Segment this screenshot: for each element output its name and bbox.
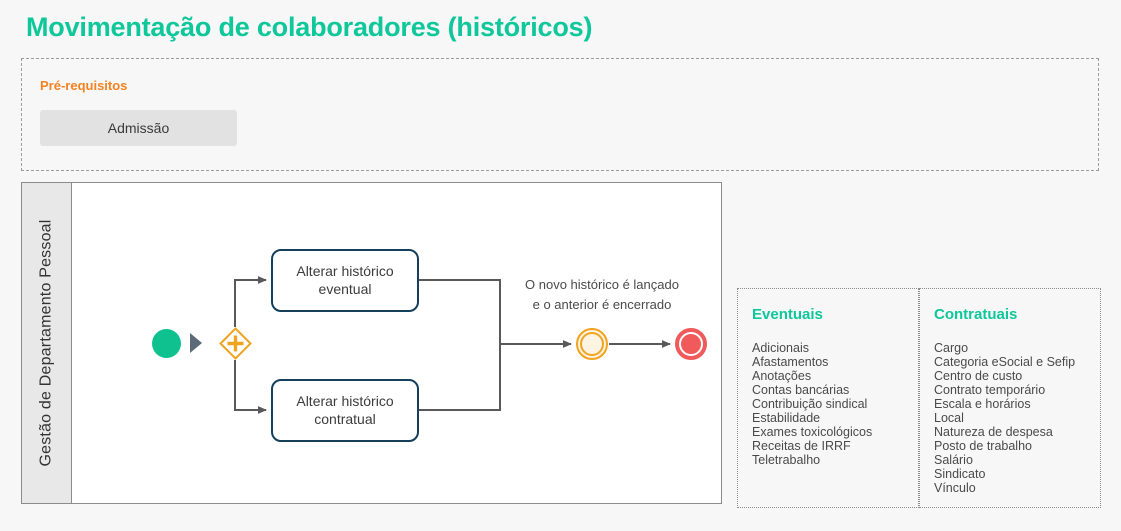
legend-title-eventuais: Eventuais [752, 306, 823, 323]
connector-contratual-to-merge [419, 344, 500, 410]
page-title: Movimentação de colaboradores (histórico… [26, 12, 592, 43]
legend-item: Escala e horários [934, 397, 1075, 411]
prerequisites-title: Pré-requisitos [40, 78, 127, 93]
connector-gateway-to-eventual [235, 280, 266, 327]
legend-item: Contribuição sindical [752, 397, 872, 411]
parallel-gateway-icon[interactable] [219, 327, 252, 360]
legend-item: Exames toxicológicos [752, 425, 872, 439]
connector-gateway-to-contratual [235, 360, 266, 410]
legend-item: Sindicato [934, 467, 1075, 481]
legend-item: Teletrabalho [752, 453, 872, 467]
legend-item: Cargo [934, 341, 1075, 355]
start-event-icon[interactable] [152, 329, 181, 358]
flow-marker-triangle-icon [190, 333, 202, 353]
legend-item: Salário [934, 453, 1075, 467]
legend-item: Anotações [752, 369, 872, 383]
legend-panel-contratuais: Contratuais CargoCategoria eSocial e Sef… [919, 288, 1101, 508]
prerequisite-chip-admissao[interactable]: Admissão [40, 110, 237, 146]
legend-list-contratuais: CargoCategoria eSocial e SefipCentro de … [934, 341, 1075, 495]
task-alterar-historico-eventual[interactable]: Alterar histórico eventual [271, 249, 419, 312]
legend-item: Contrato temporário [934, 383, 1075, 397]
process-pool: Gestão de Departamento Pessoal [21, 182, 722, 504]
legend-item: Categoria eSocial e Sefip [934, 355, 1075, 369]
prerequisites-panel: Pré-requisitos Admissão [21, 58, 1099, 171]
task-alterar-historico-contratual[interactable]: Alterar histórico contratual [271, 379, 419, 442]
legend-item: Contas bancárias [752, 383, 872, 397]
lane-body: Alterar histórico eventual Alterar histó… [72, 183, 721, 503]
legend-item: Estabilidade [752, 411, 872, 425]
intermediate-event-icon[interactable] [576, 328, 608, 360]
end-event-icon[interactable] [675, 328, 707, 360]
lane-header: Gestão de Departamento Pessoal [22, 183, 72, 503]
legend-item: Vínculo [934, 481, 1075, 495]
legend-item: Local [934, 411, 1075, 425]
legend-panel-eventuais: Eventuais AdicionaisAfastamentosAnotaçõe… [737, 288, 919, 508]
legend-title-contratuais: Contratuais [934, 306, 1017, 323]
connector-eventual-to-merge [419, 280, 500, 344]
legend-item: Natureza de despesa [934, 425, 1075, 439]
legend-item: Afastamentos [752, 355, 872, 369]
annotation-line-1: O novo histórico é lançado [502, 275, 702, 295]
lane-label: Gestão de Departamento Pessoal [38, 219, 56, 466]
legend-item: Adicionais [752, 341, 872, 355]
legend-list-eventuais: AdicionaisAfastamentosAnotaçõesContas ba… [752, 341, 872, 467]
legend-item: Posto de trabalho [934, 439, 1075, 453]
annotation-line-2: e o anterior é encerrado [502, 295, 702, 315]
legend-item: Receitas de IRRF [752, 439, 872, 453]
legend-item: Centro de custo [934, 369, 1075, 383]
flow-annotation: O novo histórico é lançado e o anterior … [502, 275, 702, 315]
